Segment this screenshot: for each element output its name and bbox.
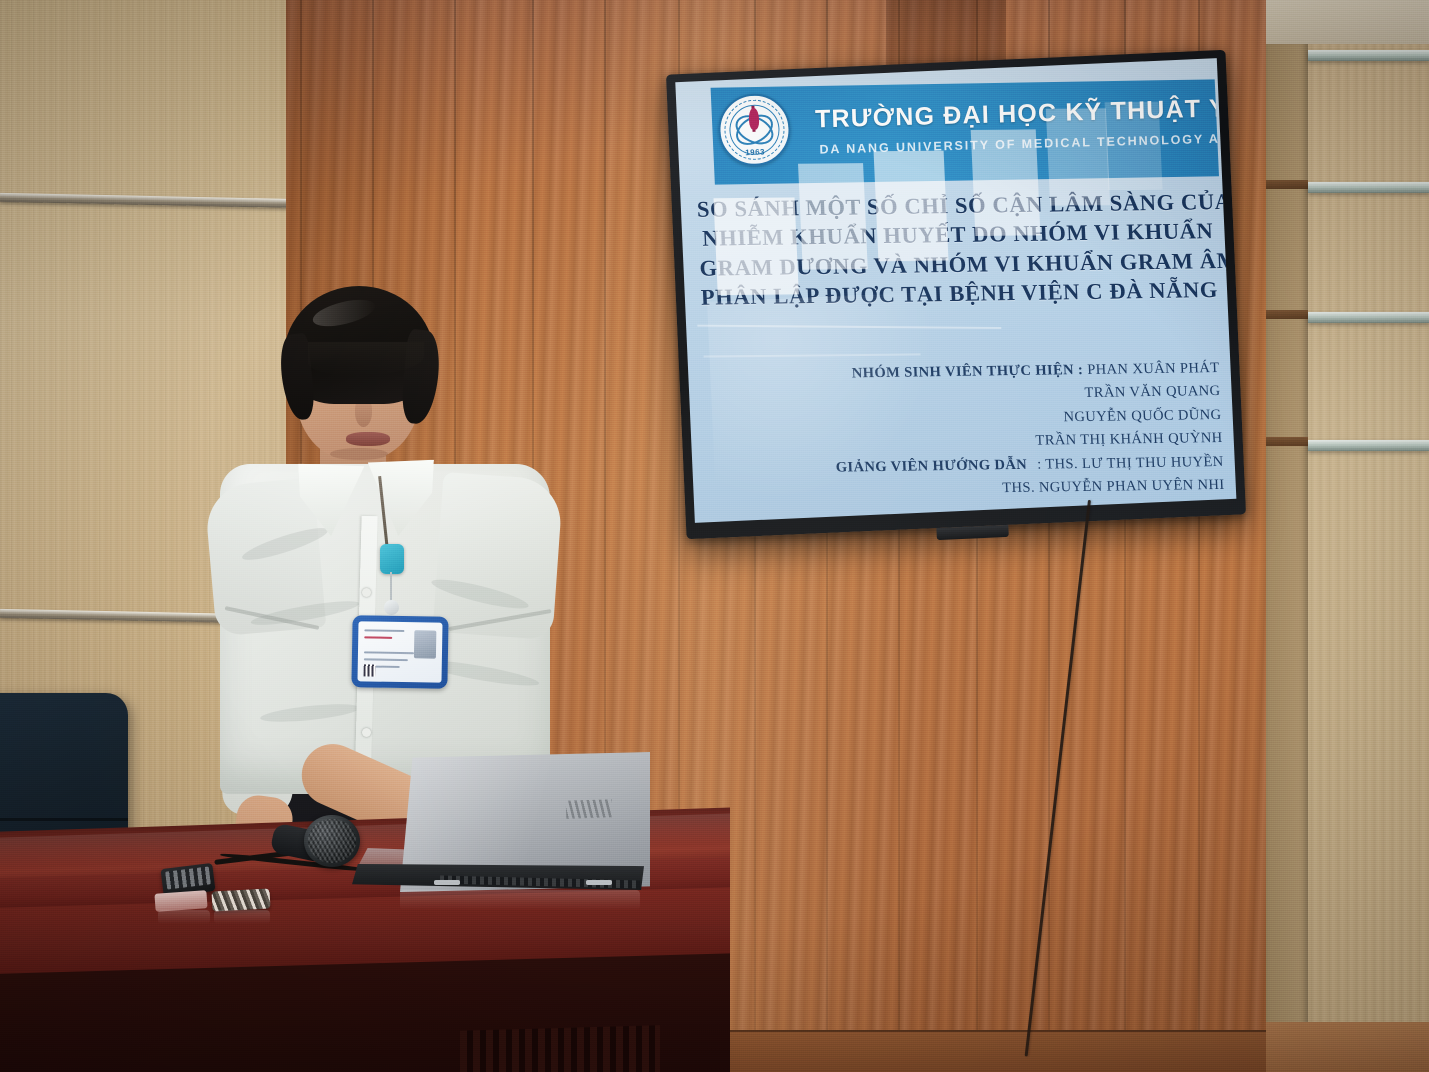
advisor-name-1: : THS. LƯ THỊ THU HUYỀN — [1037, 451, 1225, 477]
wall-reveal-strip-upper — [0, 193, 300, 208]
desk-grille — [460, 1025, 660, 1072]
shirt-button-1 — [362, 588, 371, 597]
logo-year: 1963 — [745, 148, 765, 158]
photo-scene: TRƯỜNG ĐẠI HỌC KỸ THUẬT Y - DƯỢC ĐÀ NẴNG… — [0, 0, 1429, 1072]
small-pink-object[interactable] — [154, 890, 207, 912]
university-name: TRƯỜNG ĐẠI HỌC KỸ THUẬT Y - DƯỢC ĐÀ NẴNG — [815, 87, 1219, 134]
slide-credits-block: NHÓM SINH VIÊN THỰC HIỆN : PHAN XUÂN PHÁ… — [704, 357, 1225, 505]
right-wall-column — [1266, 40, 1308, 1040]
small-foil-object[interactable] — [212, 888, 271, 911]
glass-reveal-1 — [1308, 50, 1429, 61]
presenter-desk — [0, 878, 730, 1072]
slide-title-block: SO SÁNH MỘT SỐ CHỈ SỐ CẬN LÂM SÀNG CỦA N… — [697, 187, 1217, 312]
ceiling-strip — [1266, 0, 1429, 44]
badge-reel-clip-icon — [380, 544, 404, 574]
microphone-mesh-icon — [308, 819, 356, 863]
right-floor-strip — [1266, 1022, 1429, 1072]
screen-streak-2 — [704, 353, 921, 357]
glass-reveal-3 — [1308, 312, 1429, 323]
id-badge — [351, 615, 448, 689]
id-card — [357, 621, 442, 682]
shirt-button-3 — [362, 728, 371, 737]
tv-screen[interactable]: TRƯỜNG ĐẠI HỌC KỸ THUẬT Y - DƯỢC ĐÀ NẴNG… — [675, 58, 1236, 523]
university-name-english: DA NANG UNIVERSITY OF MEDICAL TECHNOLOGY… — [819, 129, 1219, 157]
laptop-foot-right — [586, 880, 612, 885]
tv-bezel: TRƯỜNG ĐẠI HỌC KỸ THUẬT Y - DƯỢC ĐÀ NẴNG… — [666, 50, 1246, 539]
advisors-label: GIẢNG VIÊN HƯỚNG DẪN — [836, 454, 1028, 480]
right-shoulder — [433, 472, 564, 640]
mouth — [346, 432, 390, 446]
wall-mounted-tv[interactable]: TRƯỜNG ĐẠI HỌC KỸ THUẬT Y - DƯỢC ĐÀ NẴNG… — [666, 50, 1246, 539]
badge-reel-knob — [384, 600, 399, 615]
glass-reveal-4 — [1308, 440, 1429, 451]
chair-seam — [0, 818, 128, 821]
glass-reveal-2 — [1308, 182, 1429, 193]
student-name-1: PHAN XUÂN PHÁT — [1087, 360, 1220, 378]
students-label: NHÓM SINH VIÊN THỰC HIỆN : — [852, 362, 1084, 381]
laptop-brand-logo-icon — [566, 799, 613, 819]
chin-shadow — [330, 448, 388, 460]
laptop-foot-left — [434, 880, 460, 885]
right-wall-panel — [1266, 0, 1429, 1072]
qr-code-icon — [364, 664, 376, 676]
id-photo — [414, 630, 436, 658]
title-line-4: PHÂN LẬP ĐƯỢC TẠI BỆNH VIỆN C ĐÀ NẴNG — [700, 275, 1216, 312]
screen-streak-1 — [697, 325, 1001, 329]
